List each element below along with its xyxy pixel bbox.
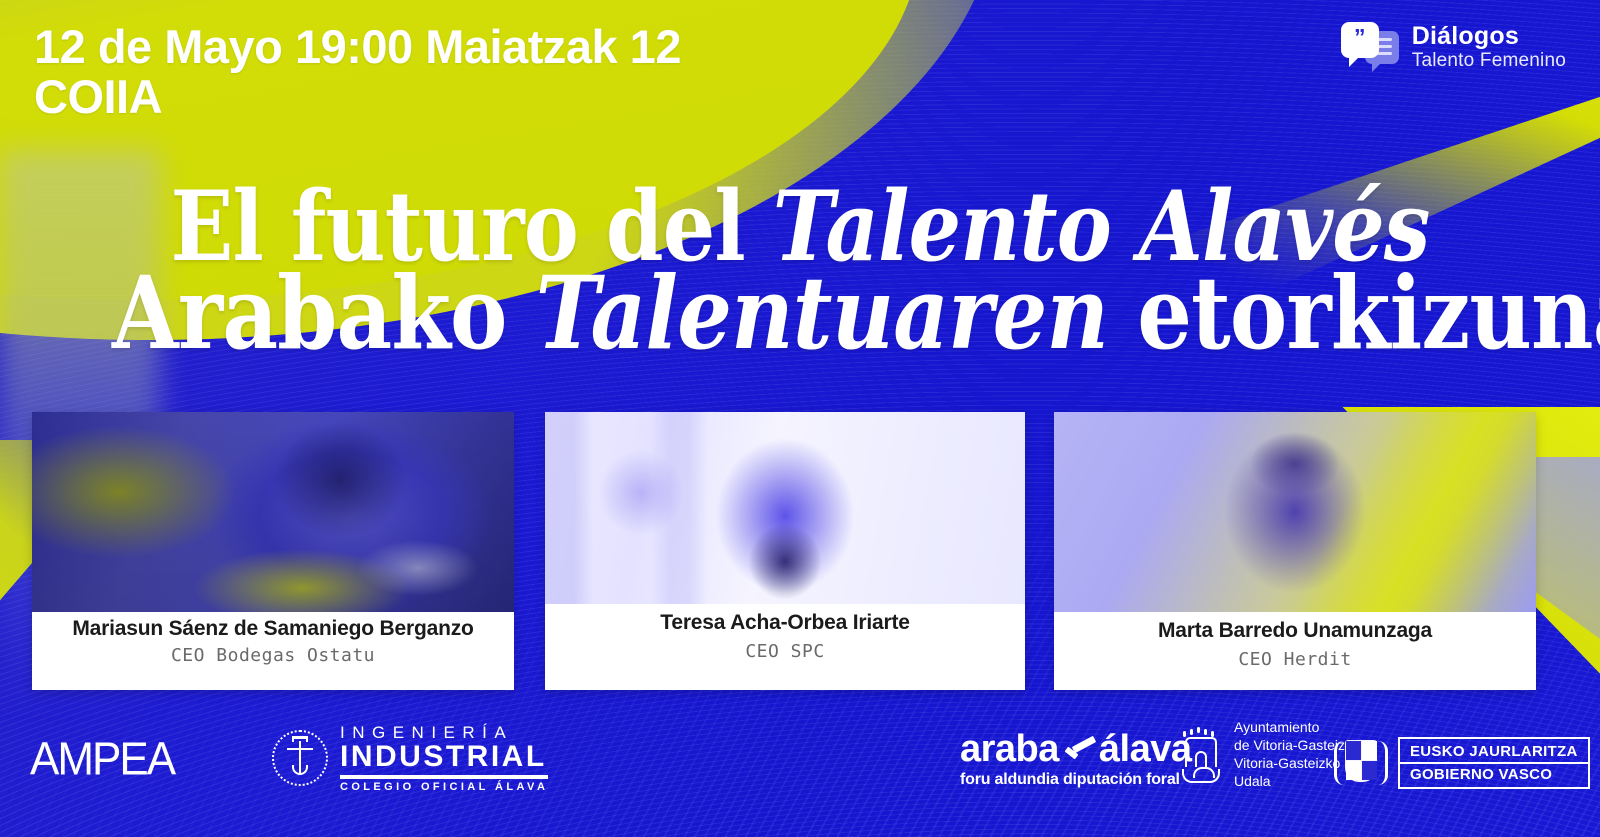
basque-government-crest-icon bbox=[1334, 735, 1388, 791]
speaker-role: CEO SPC bbox=[745, 641, 824, 662]
ingenieria-rule bbox=[340, 775, 548, 779]
ingenieria-line3: COLEGIO OFICIAL ÁLAVA bbox=[340, 782, 548, 793]
ampea-logo: AMPEA bbox=[30, 734, 174, 787]
eusko-line-spanish: GOBIERNO VASCO bbox=[1400, 764, 1588, 785]
event-datetime: 12 de Mayo 19:00 Maiatzak 12 COIIA bbox=[34, 22, 681, 123]
eusko-text-box: EUSKO JAURLARITZA GOBIERNO VASCO bbox=[1398, 737, 1590, 790]
speaker-name: Teresa Acha-Orbea Iriarte bbox=[660, 612, 909, 634]
speaker-role: CEO Bodegas Ostatu bbox=[171, 645, 375, 666]
eusko-line-basque: EUSKO JAURLARITZA bbox=[1400, 741, 1588, 764]
speaker-name: Mariasun Sáenz de Samaniego Berganzo bbox=[72, 618, 473, 640]
poster-titles: El futuro del Talento Alavés Arabako Tal… bbox=[0, 182, 1600, 360]
quote-glyph: ” bbox=[1354, 26, 1366, 49]
title-basque: Arabako Talentuaren etorkizuna bbox=[112, 267, 1488, 360]
dialogos-logo: ” Diálogos Talento Femenino bbox=[1341, 22, 1566, 74]
speaker-caption: Marta Barredo Unamunzaga CEO Herdit bbox=[1054, 612, 1536, 690]
araba-check-icon bbox=[1063, 739, 1097, 759]
ayuntamiento-line4: Udala bbox=[1234, 773, 1345, 791]
speaker-name: Marta Barredo Unamunzaga bbox=[1158, 620, 1432, 642]
title-basque-suffix: etorkizuna bbox=[1108, 254, 1600, 372]
speaker-role: CEO Herdit bbox=[1238, 649, 1351, 670]
title-basque-prefix: Arabako bbox=[112, 254, 536, 372]
event-venue-text: COIIA bbox=[34, 72, 681, 122]
araba-subtitle: foru aldundia diputación foral bbox=[960, 771, 1192, 789]
ingenieria-text: INGENIERÍA INDUSTRIAL COLEGIO OFICIAL ÁL… bbox=[340, 724, 548, 794]
ayuntamiento-line1: Ayuntamiento bbox=[1234, 719, 1345, 737]
speaker-photo bbox=[545, 412, 1025, 604]
ingenieria-seal-icon bbox=[272, 730, 328, 786]
araba-word-basque: araba bbox=[960, 730, 1059, 768]
speech-bubble-icon: ” bbox=[1341, 22, 1399, 74]
speaker-photo bbox=[1054, 412, 1536, 612]
speaker-card: Mariasun Sáenz de Samaniego Berganzo CEO… bbox=[32, 412, 514, 690]
speech-bubble-front-icon: ” bbox=[1341, 22, 1379, 58]
ayuntamiento-crest-icon bbox=[1178, 727, 1224, 783]
brand-tagline: Talento Femenino bbox=[1412, 50, 1566, 73]
title-basque-emphasis: Talentuaren bbox=[536, 254, 1108, 372]
ayuntamiento-line3: Vitoria-Gasteizko bbox=[1234, 755, 1345, 773]
speaker-card: Marta Barredo Unamunzaga CEO Herdit bbox=[1054, 412, 1536, 690]
speaker-card: Teresa Acha-Orbea Iriarte CEO SPC bbox=[545, 412, 1025, 690]
sponsor-logo-bar: AMPEA INGENIERÍA INDUSTRIAL COLEGIO OFIC… bbox=[0, 697, 1600, 837]
speaker-photo bbox=[32, 412, 514, 612]
brand-text: Diálogos Talento Femenino bbox=[1412, 23, 1566, 72]
brand-name: Diálogos bbox=[1412, 23, 1566, 49]
event-date-text: 12 de Mayo 19:00 Maiatzak 12 bbox=[34, 20, 681, 73]
eusko-jaurlaritza-logo: EUSKO JAURLARITZA GOBIERNO VASCO bbox=[1334, 735, 1590, 791]
ingenieria-industrial-logo: INGENIERÍA INDUSTRIAL COLEGIO OFICIAL ÁL… bbox=[272, 724, 548, 794]
ingenieria-line1: INGENIERÍA bbox=[340, 724, 548, 741]
araba-alava-logo: araba álava foru aldundia diputación for… bbox=[960, 730, 1192, 789]
event-poster: 12 de Mayo 19:00 Maiatzak 12 COIIA ” Diá… bbox=[0, 0, 1600, 837]
ayuntamiento-vitoria-gasteiz-logo: Ayuntamiento de Vitoria-Gasteiz Vitoria-… bbox=[1178, 719, 1345, 791]
ayuntamiento-line2: de Vitoria-Gasteiz bbox=[1234, 737, 1345, 755]
speaker-caption: Teresa Acha-Orbea Iriarte CEO SPC bbox=[545, 604, 1025, 690]
speaker-card-list: Mariasun Sáenz de Samaniego Berganzo CEO… bbox=[0, 412, 1600, 697]
ingenieria-line2: INDUSTRIAL bbox=[340, 741, 548, 773]
ayuntamiento-text: Ayuntamiento de Vitoria-Gasteiz Vitoria-… bbox=[1234, 719, 1345, 791]
speaker-caption: Mariasun Sáenz de Samaniego Berganzo CEO… bbox=[32, 612, 514, 690]
araba-wordmark: araba álava bbox=[960, 730, 1192, 768]
